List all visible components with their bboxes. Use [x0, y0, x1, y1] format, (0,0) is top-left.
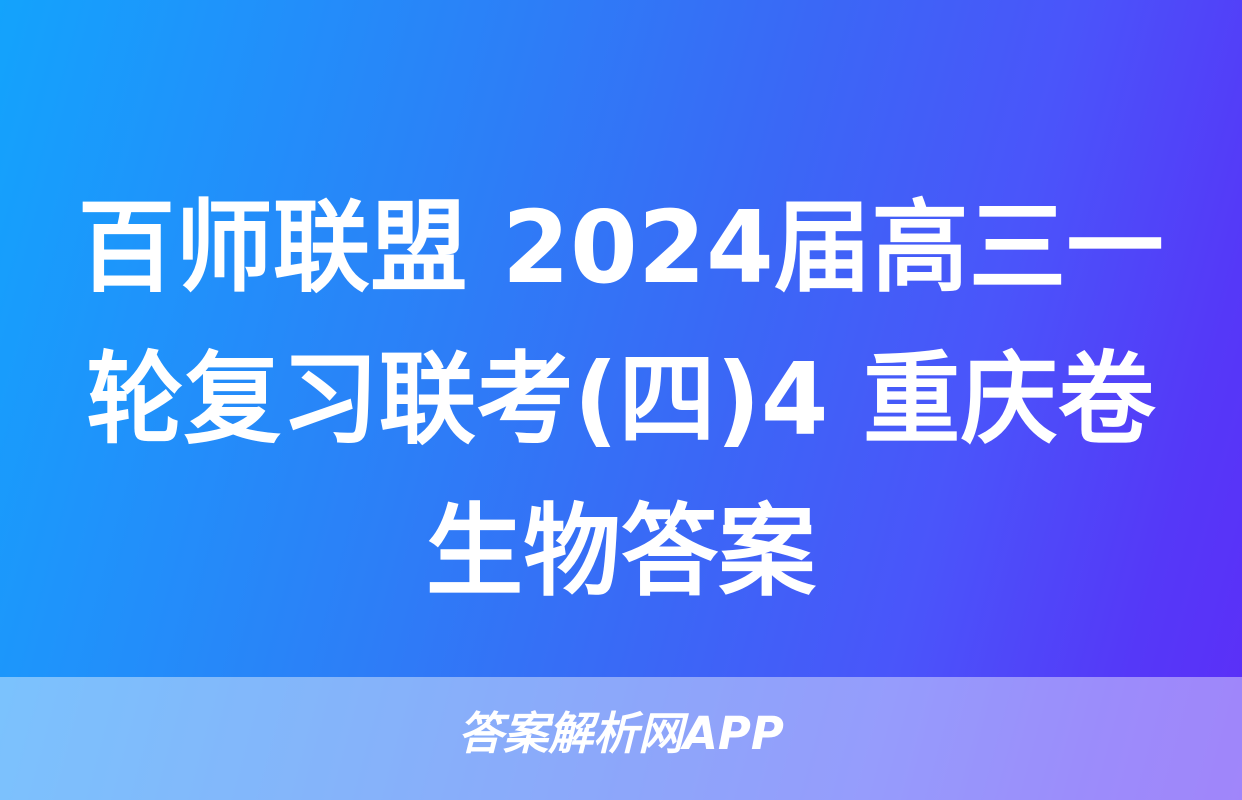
poster-canvas: 百师联盟 2024届高三一 轮复习联考(四)4 重庆卷 生物答案 答案解析网AP… [0, 0, 1242, 800]
title-line-3: 生物答案 [52, 476, 1191, 628]
title-line-1: 百师联盟 2024届高三一 [52, 172, 1191, 324]
page-title: 百师联盟 2024届高三一 轮复习联考(四)4 重庆卷 生物答案 [0, 172, 1242, 628]
app-watermark: 答案解析网APP [0, 706, 1242, 762]
title-line-2: 轮复习联考(四)4 重庆卷 [52, 324, 1191, 476]
